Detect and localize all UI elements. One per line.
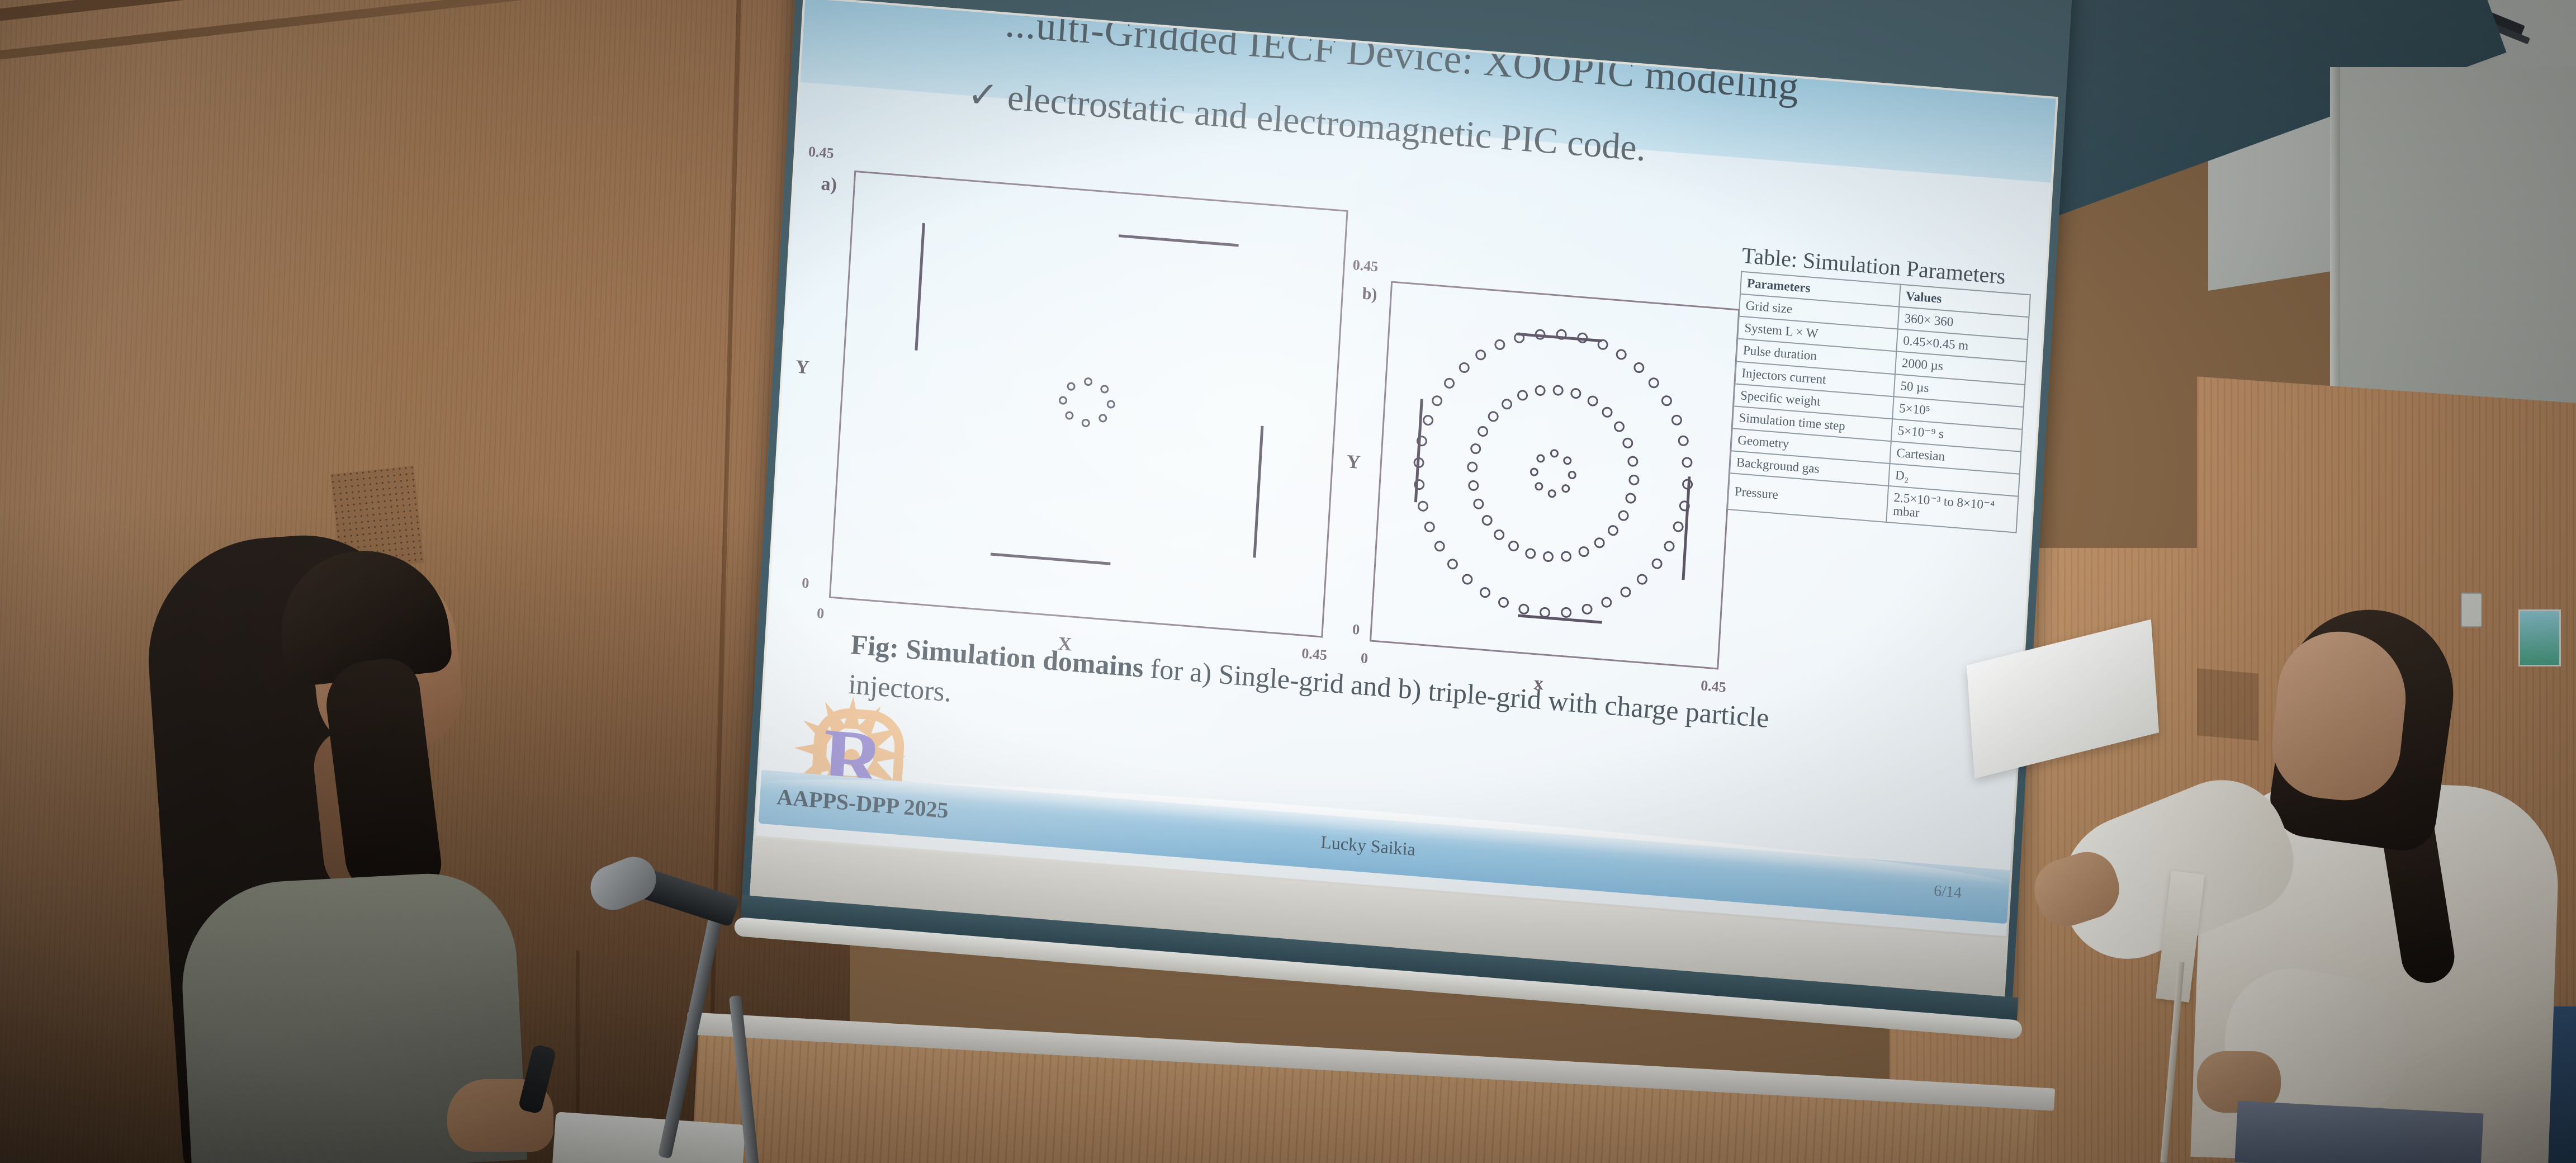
panel-a-ytick-min: 0 xyxy=(801,575,809,592)
panel-b-label: b) xyxy=(1362,284,1378,304)
photo-scene: ...ulti-Gridded IECF Device: XOOPIC mode… xyxy=(0,0,2576,1163)
panel-a-y-axis-label: Y xyxy=(795,357,810,379)
panel-b-frame xyxy=(1370,281,1740,669)
panel-a-ytick-max: 0.45 xyxy=(808,143,834,162)
wall-socket-icon xyxy=(2461,593,2482,627)
panel-a-label: a) xyxy=(821,173,837,196)
wall-green-panel xyxy=(2518,609,2561,666)
slide-content: ...ulti-Gridded IECF Device: XOOPIC mode… xyxy=(755,0,2056,936)
projection-screen: ...ulti-Gridded IECF Device: XOOPIC mode… xyxy=(737,0,2076,1079)
panel-a-frame xyxy=(829,171,1348,638)
panel-b-ytick-min: 0 xyxy=(1352,621,1360,639)
simulation-parameters-table: ParametersValuesGrid size360× 360System … xyxy=(1727,271,2031,533)
panel-a-xtick-min: 0 xyxy=(816,605,825,622)
panel-b-ytick-max: 0.45 xyxy=(1352,257,1379,276)
panel-b-xtick-min: 0 xyxy=(1360,650,1368,667)
footer-page-number: 6/14 xyxy=(1933,882,1962,902)
wall-panel-notch xyxy=(2197,668,2258,741)
panel-b-y-axis-label: Y xyxy=(1346,451,1361,474)
